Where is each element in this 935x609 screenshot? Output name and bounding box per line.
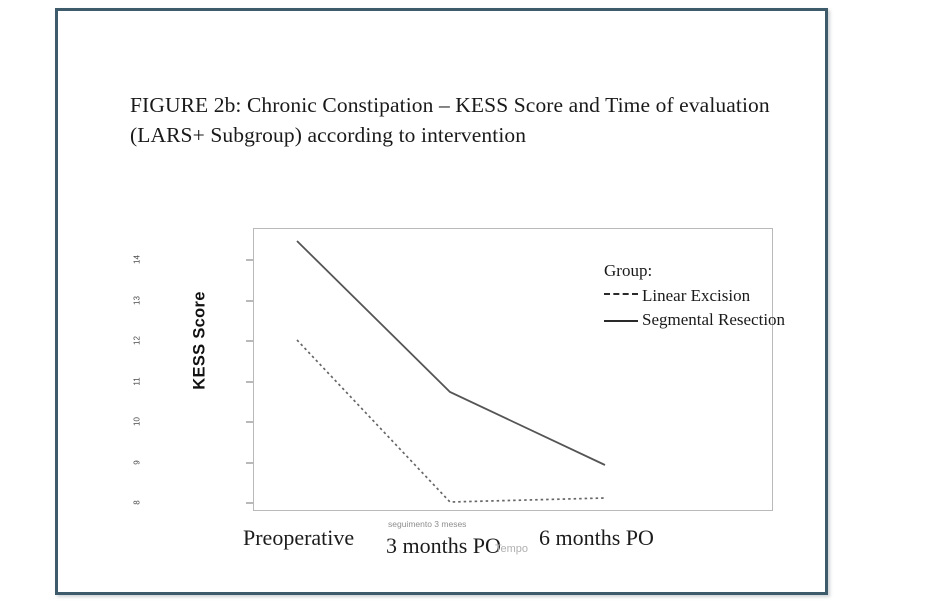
x-axis-label-3-months-po: 3 months PO — [386, 533, 501, 559]
x-axis-label-original-pt-3-meses: seguimento 3 meses — [388, 519, 466, 529]
series-line-segmental-resection — [297, 241, 605, 465]
y-tick-mark-11 — [246, 381, 253, 383]
y-tick-mark-12 — [246, 340, 253, 342]
slide-canvas: FIGURE 2b: Chronic Constipation – KESS S… — [0, 0, 935, 609]
y-tick-mark-14 — [246, 259, 253, 261]
y-tick-mark-9 — [246, 462, 253, 464]
y-tick-label-11: 11 — [133, 369, 142, 395]
y-axis-title: KESS Score — [191, 251, 210, 431]
legend-label-linear-excision: Linear Excision — [642, 284, 750, 308]
legend-label-segmental-resection: Segmental Resection — [642, 308, 785, 332]
y-tick-label-14: 14 — [133, 247, 142, 273]
slide-frame: FIGURE 2b: Chronic Constipation – KESS S… — [55, 8, 828, 595]
x-axis-label-6-months-po: 6 months PO — [539, 525, 654, 551]
chart-container: KESS Score 14 13 12 11 10 9 8 — [118, 211, 798, 581]
y-tick-label-10: 10 — [133, 409, 142, 435]
solid-line-icon — [604, 311, 638, 325]
series-line-linear-excision — [297, 340, 605, 502]
x-axis-label-preoperative: Preoperative — [243, 525, 354, 551]
y-tick-mark-8 — [246, 502, 253, 504]
legend: Group: Linear Excision Segmental Resecti… — [604, 259, 785, 332]
plot-frame: Group: Linear Excision Segmental Resecti… — [253, 228, 773, 511]
y-tick-label-8: 8 — [133, 490, 142, 516]
legend-item-segmental-resection: Segmental Resection — [604, 308, 785, 332]
legend-title: Group: — [604, 259, 785, 283]
y-tick-label-9: 9 — [133, 450, 142, 476]
page-title: FIGURE 2b: Chronic Constipation – KESS S… — [130, 90, 790, 150]
y-tick-mark-10 — [246, 421, 253, 423]
y-tick-label-13: 13 — [133, 288, 142, 314]
x-axis-title-original-pt: Tempo — [495, 543, 528, 555]
y-tick-mark-13 — [246, 300, 253, 302]
legend-item-linear-excision: Linear Excision — [604, 284, 785, 308]
dashed-line-icon — [604, 287, 638, 301]
y-tick-label-12: 12 — [133, 328, 142, 354]
